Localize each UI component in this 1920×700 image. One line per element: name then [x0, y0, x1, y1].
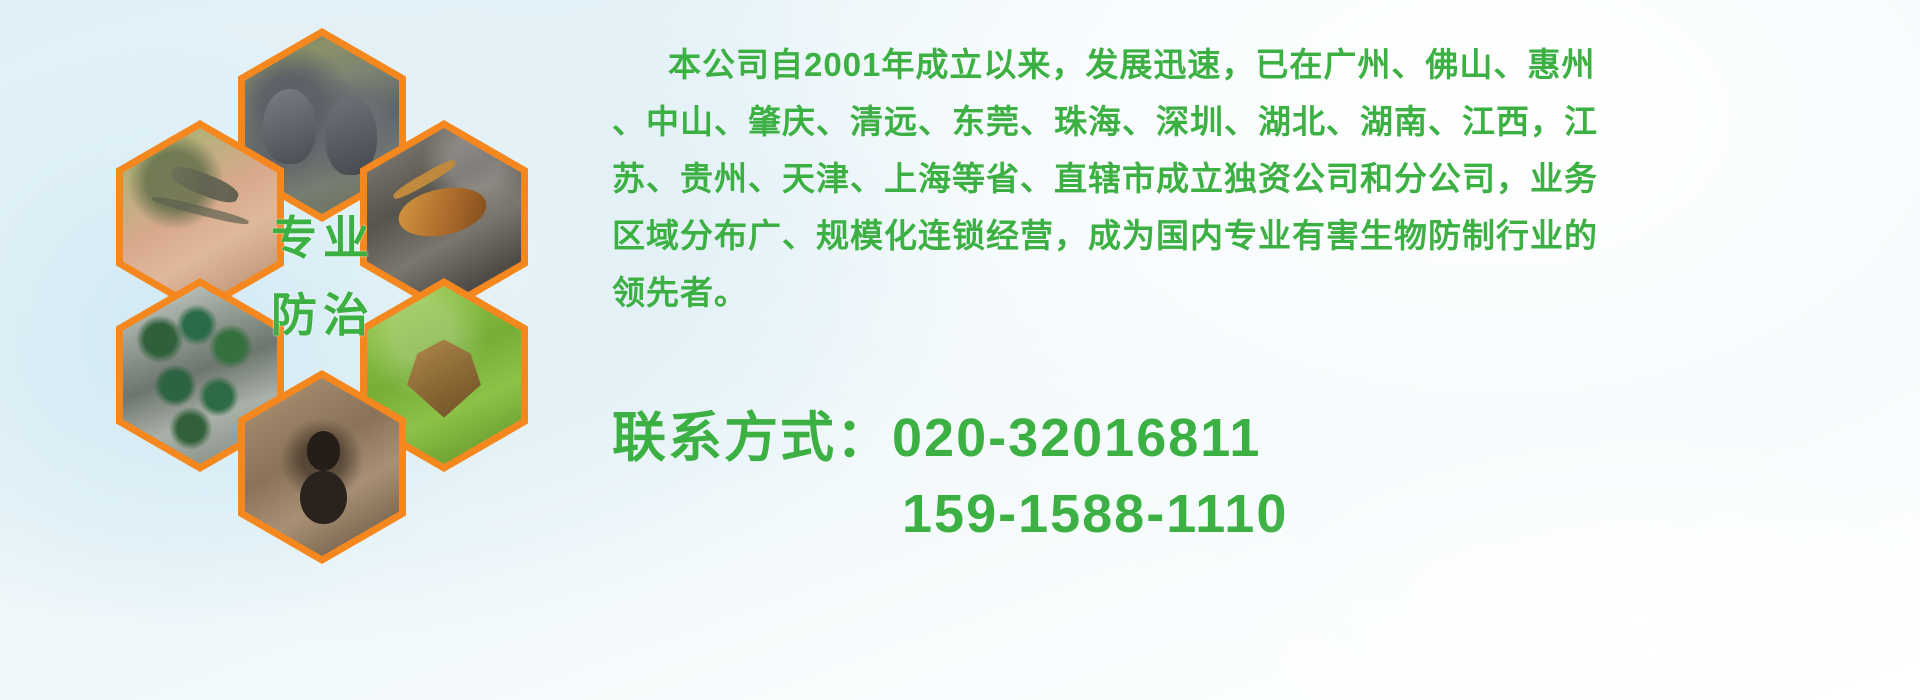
slogan-word-prevention: 防治: [271, 292, 375, 338]
contact-block: 联系方式：020-32016811 159-1588-1110: [612, 400, 1912, 552]
hex-cell-ants-photo: [245, 378, 399, 556]
promo-banner: 专业 防治 本公司自2001年成立以来，发展迅速，已在广州、佛山、惠州 、中山、…: [0, 0, 1920, 700]
company-description: 本公司自2001年成立以来，发展迅速，已在广州、佛山、惠州 、中山、肇庆、清远、…: [612, 36, 1912, 321]
description-line-3: 苏、贵州、天津、上海等省、直辖市成立独资公司和分公司，业务: [612, 150, 1912, 207]
description-line-1: 本公司自2001年成立以来，发展迅速，已在广州、佛山、惠州: [612, 36, 1912, 93]
slogan-word-professional: 专业: [271, 215, 375, 261]
ants-icon: [245, 378, 399, 556]
contact-secondary-line: 159-1588-1110: [612, 476, 1912, 552]
description-line-4: 区域分布广、规模化连锁经营，成为国内专业有害生物防制行业的: [612, 207, 1912, 264]
description-line-2: 、中山、肇庆、清远、东莞、珠海、深圳、湖北、湖南、江西，江: [612, 93, 1912, 150]
phone-secondary[interactable]: 159-1588-1110: [902, 484, 1288, 544]
phone-primary[interactable]: 020-32016811: [892, 408, 1261, 468]
contact-primary-line: 联系方式：020-32016811: [612, 400, 1912, 476]
description-line-5: 领先者。: [612, 264, 1912, 321]
contact-label: 联系方式：: [612, 408, 892, 468]
